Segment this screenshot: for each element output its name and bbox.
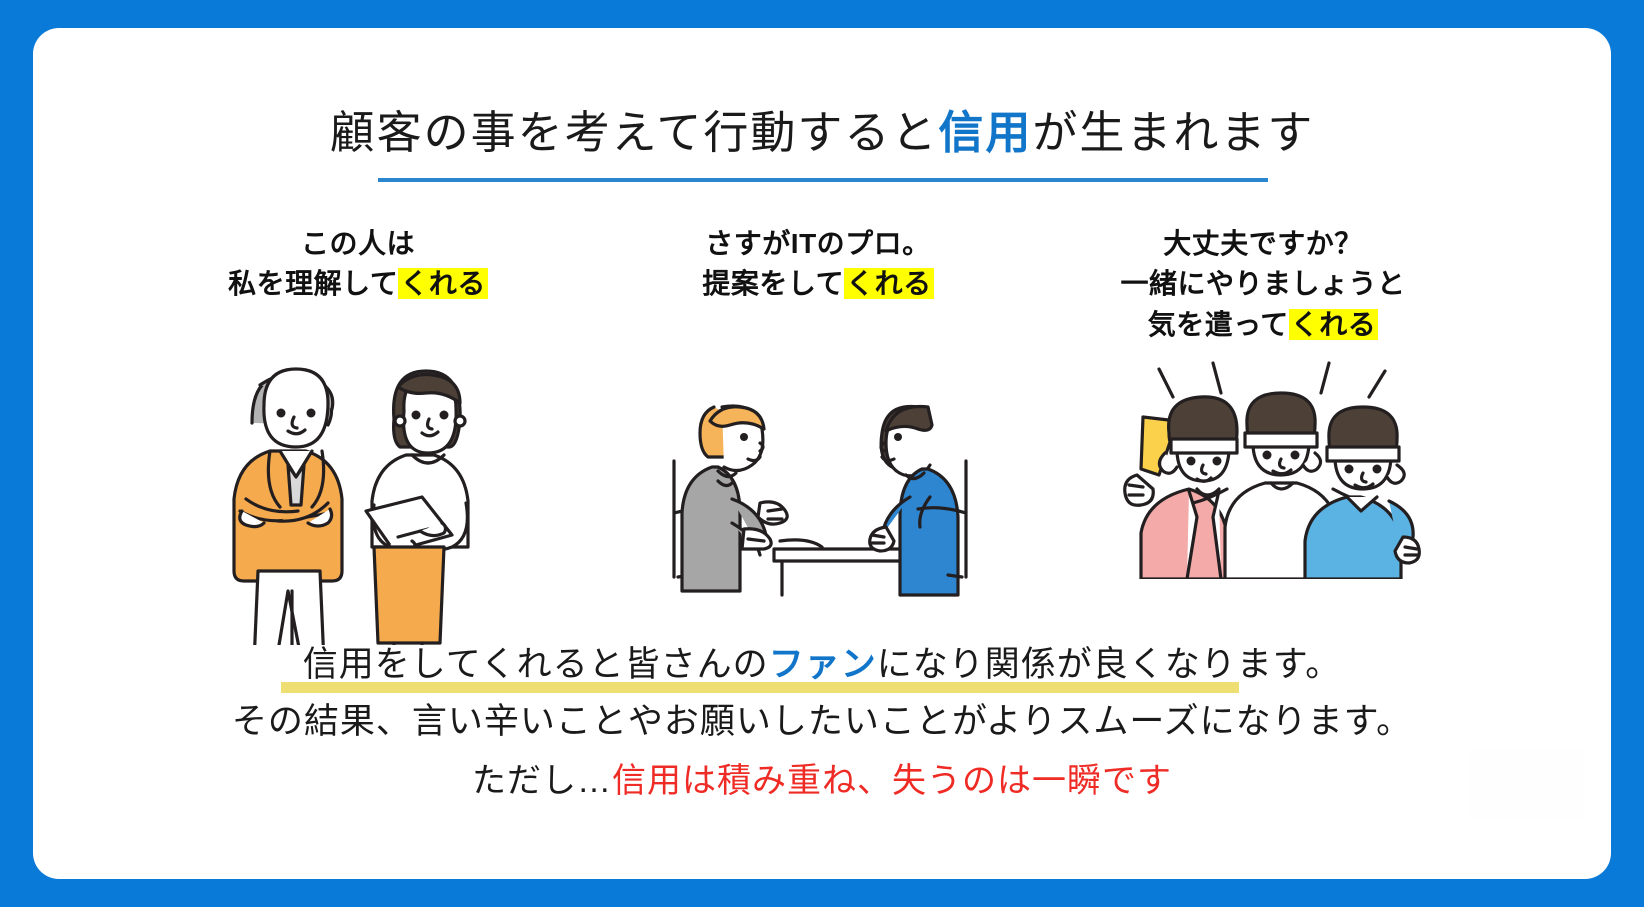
summary-line-1-part-2: になり関係が良くなります。 <box>877 645 1342 684</box>
background-artifact <box>1468 749 1583 819</box>
illustration-man-and-woman <box>208 315 508 645</box>
caption-text: さすがITのプロ。 <box>705 228 930 259</box>
caption-line: さすがITのプロ。 <box>588 224 1048 264</box>
caption-text: 大丈夫ですか？ <box>1163 228 1363 259</box>
summary-line-2: その結果、言い辛いことやお願いしたいことがよりスムーズになります。 <box>33 693 1611 744</box>
summary-line-1-underline <box>281 682 1239 693</box>
caption-line: 大丈夫ですか？ <box>1033 224 1493 264</box>
title-part-2: が生まれます <box>1032 107 1314 158</box>
page-title: 顧客の事を考えて行動すると信用が生まれます <box>33 96 1611 161</box>
content-card: 顧客の事を考えて行動すると信用が生まれます この人は 私を理解してくれる <box>33 28 1611 879</box>
title-part-1: 顧客の事を考えて行動すると <box>330 107 939 158</box>
panel-3-caption: 大丈夫ですか？ 一緒にやりましょうと 気を遣ってくれる <box>1033 224 1493 345</box>
caption-highlight: くれる <box>398 268 488 299</box>
panel-1-caption: この人は 私を理解してくれる <box>128 224 588 305</box>
caption-highlight: くれる <box>1289 309 1379 340</box>
title-divider <box>378 178 1268 182</box>
caption-text: 私を理解して <box>228 268 398 299</box>
caption-line: この人は <box>128 224 588 264</box>
caption-line: 提案をしてくれる <box>588 264 1048 304</box>
illustration-meeting <box>648 363 988 603</box>
caption-text: この人は <box>301 228 415 259</box>
summary-line-3-prefix: ただし… <box>472 762 612 800</box>
slide-canvas: 顧客の事を考えて行動すると信用が生まれます この人は 私を理解してくれる <box>0 0 1644 907</box>
caption-text: 気を遣って <box>1148 309 1289 340</box>
caption-line: 一緒にやりましょうと <box>1033 264 1493 304</box>
summary-line-3: ただし…信用は積み重ね、失うのは一瞬です <box>33 753 1611 802</box>
caption-line: 私を理解してくれる <box>128 264 588 304</box>
caption-text: 提案をして <box>702 268 844 299</box>
panel-2-caption: さすがITのプロ。 提案をしてくれる <box>588 224 1048 305</box>
summary-line-3-alert: 信用は積み重ね、失うのは一瞬です <box>612 762 1172 800</box>
caption-line: 気を遣ってくれる <box>1033 305 1493 345</box>
title-emphasis: 信用 <box>938 107 1032 158</box>
summary-line-1-part-1: 信用をしてくれると皆さんの <box>303 645 769 684</box>
summary-line-1-emphasis: ファン <box>769 645 877 684</box>
panel-understanding: この人は 私を理解してくれる <box>128 224 588 645</box>
caption-highlight: くれる <box>844 268 934 299</box>
panel-proposal: さすがITのプロ。 提案をしてくれる <box>588 224 1048 603</box>
panel-teamwork: 大丈夫ですか？ 一緒にやりましょうと 気を遣ってくれる <box>1033 224 1493 579</box>
illustration-cheering-team <box>1093 361 1433 579</box>
summary-line-1: 信用をしてくれると皆さんのファンになり関係が良くなります。 <box>33 636 1611 687</box>
caption-text: 一緒にやりましょうと <box>1120 268 1405 299</box>
